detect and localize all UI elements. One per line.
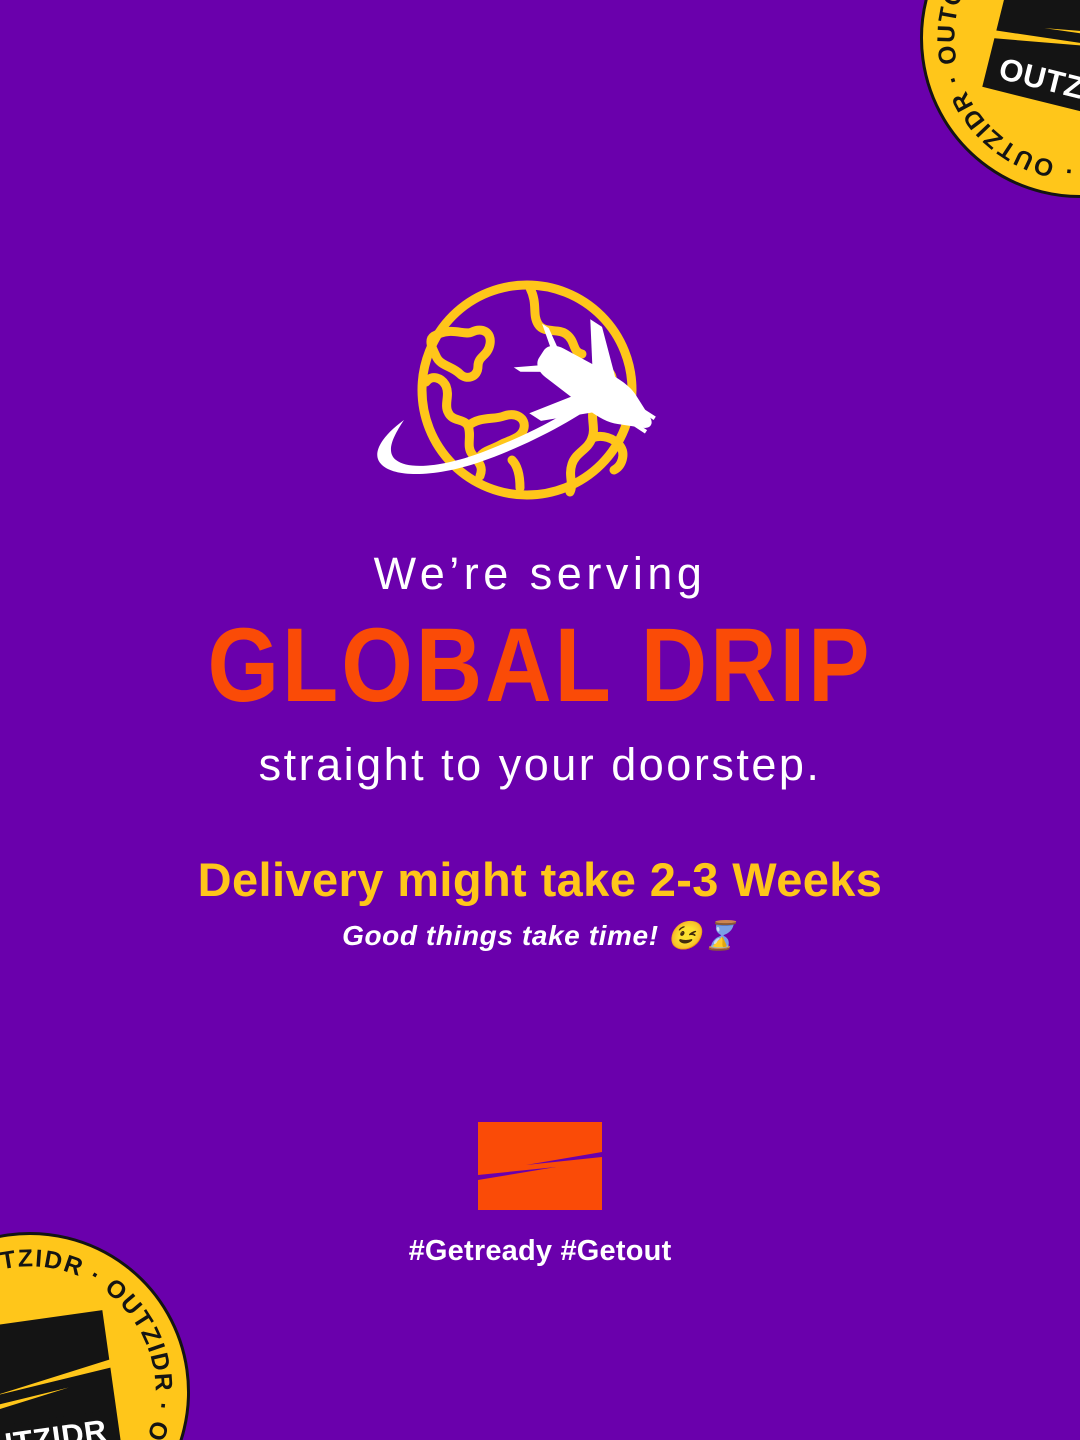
promo-poster: OUTZIDR · OUTZIDR · OUTZIDR · OUTZIDR · …	[0, 0, 1080, 1440]
delivery-note-text: Delivery might take 2-3 Weeks	[0, 853, 1080, 907]
outzidr-sticker-top-right: OUTZIDR · OUTZIDR · OUTZIDR · OUTZIDR · …	[886, 0, 1080, 232]
hero-illustration	[360, 270, 720, 510]
badge-core-bottom-left: OUTZIDR	[0, 1305, 133, 1440]
outzidr-z-logo	[478, 1122, 602, 1210]
eyebrow-text: We’re serving	[0, 548, 1080, 600]
globe-airplane-icon	[360, 270, 720, 510]
subline-text: straight to your doorstep.	[0, 739, 1080, 791]
copy-block: We’re serving GLOBAL DRIP straight to yo…	[0, 548, 1080, 953]
headline-text: GLOBAL DRIP	[0, 610, 1080, 723]
reassurance-text: Good things take time! 😉⌛	[0, 919, 1080, 953]
